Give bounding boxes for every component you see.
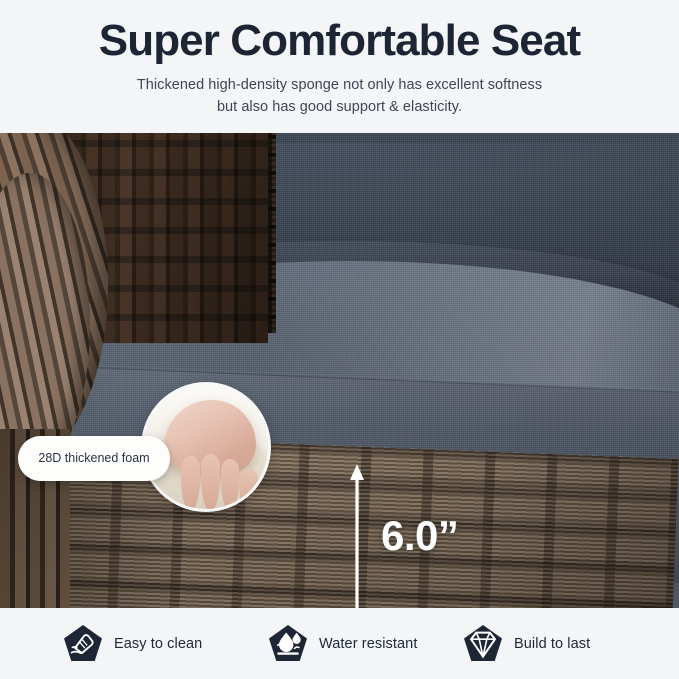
product-photo: 28D thickened foam 6.0”: [0, 133, 679, 608]
dimension-arrow-icon: [348, 464, 366, 608]
feature-build-to-last: Build to last: [462, 623, 590, 665]
finger-1: [181, 456, 200, 509]
feature-label-build-to-last: Build to last: [514, 636, 590, 652]
feature-easy-to-clean: Easy to clean: [62, 623, 202, 665]
hand-wiping-cloth-icon: [62, 623, 104, 665]
foam-callout-pill: 28D thickened foam: [18, 436, 170, 481]
finger-4: [239, 469, 258, 509]
feature-bar: Easy to clean Water resistant: [0, 608, 679, 679]
header-section: Super Comfortable Seat Thickened high-de…: [0, 0, 679, 133]
page-title: Super Comfortable Seat: [0, 16, 679, 66]
subtitle-line-2: but also has good support & elasticity.: [0, 96, 679, 118]
product-feature-graphic: Super Comfortable Seat Thickened high-de…: [0, 0, 679, 679]
page-subtitle: Thickened high-density sponge not only h…: [0, 74, 679, 118]
subtitle-line-1: Thickened high-density sponge not only h…: [0, 74, 679, 96]
finger-2: [201, 454, 220, 509]
feature-water-resistant: Water resistant: [267, 623, 417, 665]
feature-label-water-resistant: Water resistant: [319, 636, 417, 652]
dimension-label: 6.0”: [381, 515, 458, 557]
water-droplet-icon: [267, 623, 309, 665]
feature-label-easy-to-clean: Easy to clean: [114, 636, 202, 652]
diamond-gem-icon: [462, 623, 504, 665]
